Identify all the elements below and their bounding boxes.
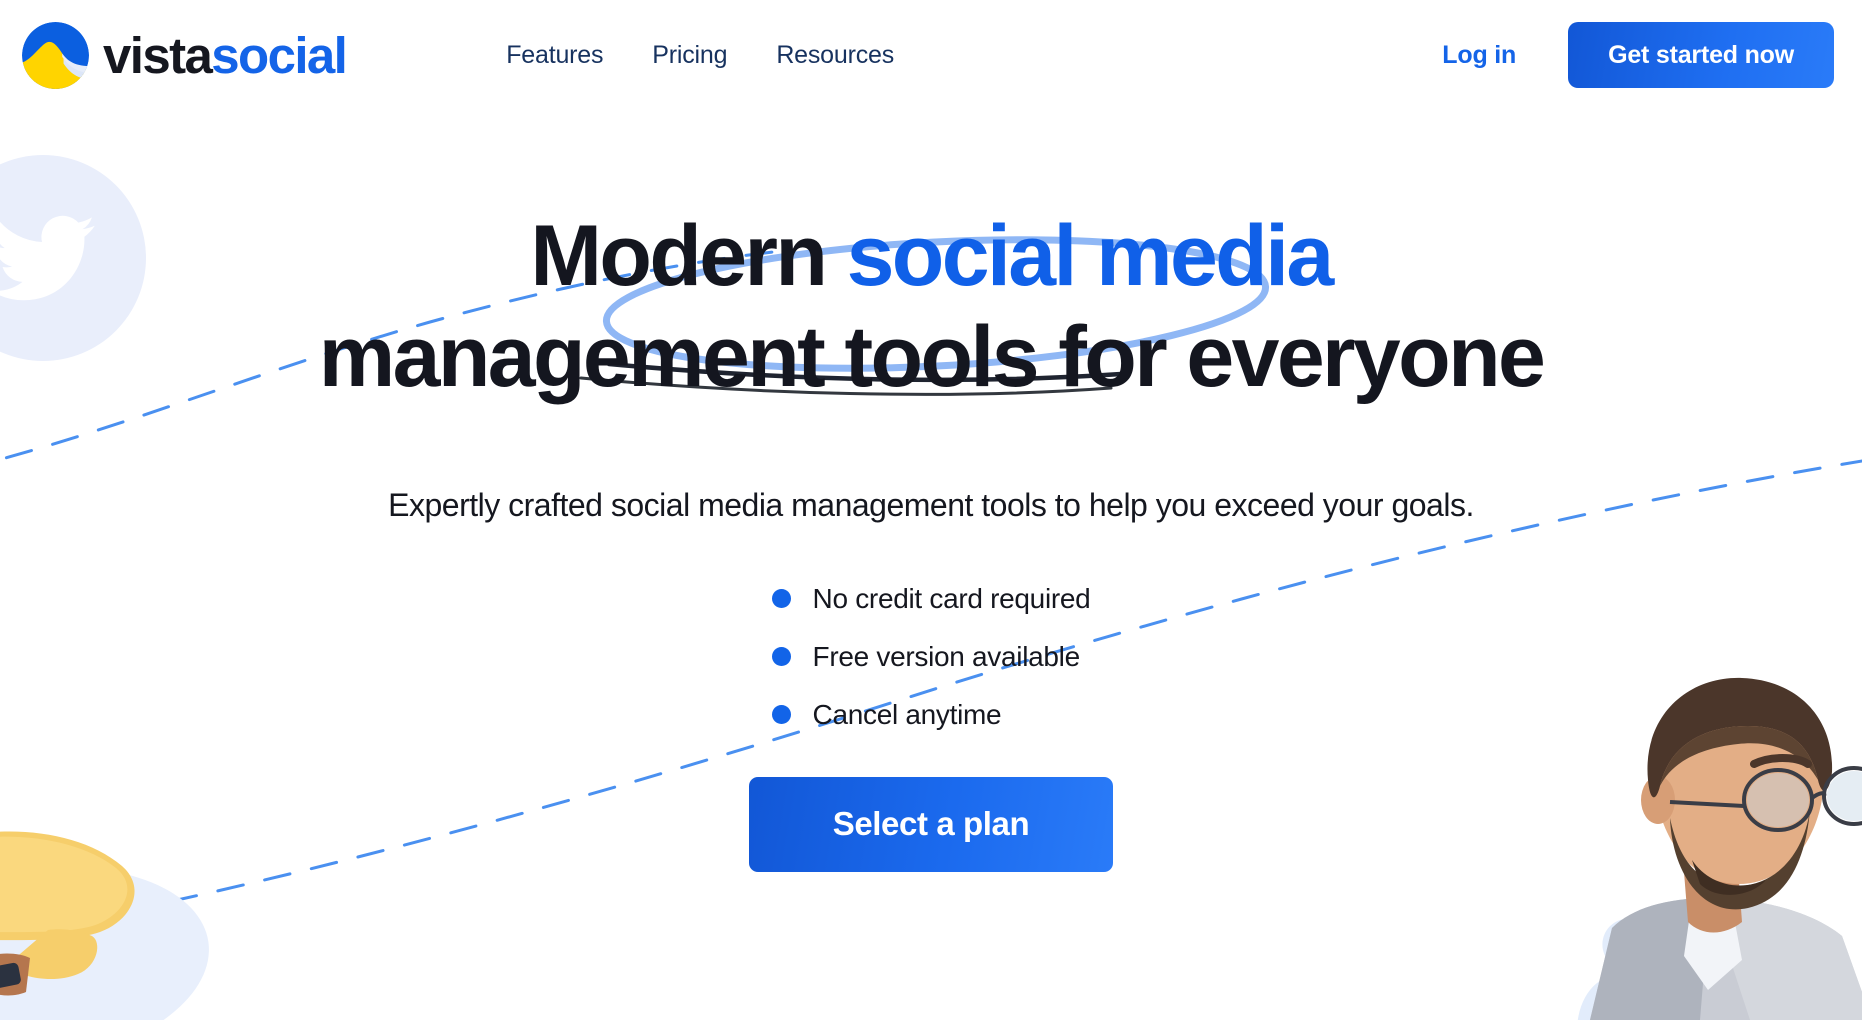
site-header: vistasocial Features Pricing Resources L… bbox=[0, 0, 1862, 110]
brand-logo-link[interactable]: vistasocial bbox=[22, 22, 346, 89]
list-item: No credit card required bbox=[772, 583, 1091, 615]
benefit-label: No credit card required bbox=[813, 583, 1091, 615]
headline-wrapper: Modern social media management tools for… bbox=[281, 206, 1581, 407]
hero-subheading: Expertly crafted social media management… bbox=[0, 485, 1862, 527]
headline-text-tail: management tools for everyone bbox=[319, 309, 1544, 405]
bullet-dot-icon bbox=[772, 589, 791, 608]
blue-blob-decoration bbox=[0, 848, 222, 1020]
benefit-label: Cancel anytime bbox=[813, 699, 1002, 731]
select-a-plan-button[interactable]: Select a plan bbox=[749, 777, 1113, 872]
nav-link-resources[interactable]: Resources bbox=[776, 41, 894, 70]
brand-word-social: social bbox=[211, 27, 346, 84]
list-item: Free version available bbox=[772, 641, 1091, 673]
hero-cta-row: Select a plan bbox=[0, 777, 1862, 872]
bullet-dot-icon bbox=[772, 647, 791, 666]
get-started-button[interactable]: Get started now bbox=[1568, 22, 1834, 88]
login-link[interactable]: Log in bbox=[1442, 41, 1516, 70]
brand-wordmark: vistasocial bbox=[103, 30, 346, 81]
list-item: Cancel anytime bbox=[772, 699, 1091, 731]
brand-word-vista: vista bbox=[103, 27, 211, 84]
headline-text-accent: social media bbox=[847, 208, 1332, 304]
page-title: Modern social media management tools for… bbox=[281, 206, 1581, 407]
header-actions: Log in Get started now bbox=[1442, 22, 1834, 88]
benefits-list: No credit card required Free version ava… bbox=[772, 583, 1091, 731]
hero-section: Modern social media management tools for… bbox=[0, 110, 1862, 872]
page-root: vistasocial Features Pricing Resources L… bbox=[0, 0, 1862, 1020]
primary-navigation: Features Pricing Resources bbox=[506, 41, 894, 70]
vista-social-circle-logo-icon bbox=[22, 22, 89, 89]
nav-link-pricing[interactable]: Pricing bbox=[652, 41, 727, 70]
user-avatar-icon bbox=[1564, 906, 1692, 1020]
headline-text-lead: Modern bbox=[530, 208, 846, 304]
bullet-dot-icon bbox=[772, 705, 791, 724]
nav-link-features[interactable]: Features bbox=[506, 41, 603, 70]
benefit-label: Free version available bbox=[813, 641, 1080, 673]
